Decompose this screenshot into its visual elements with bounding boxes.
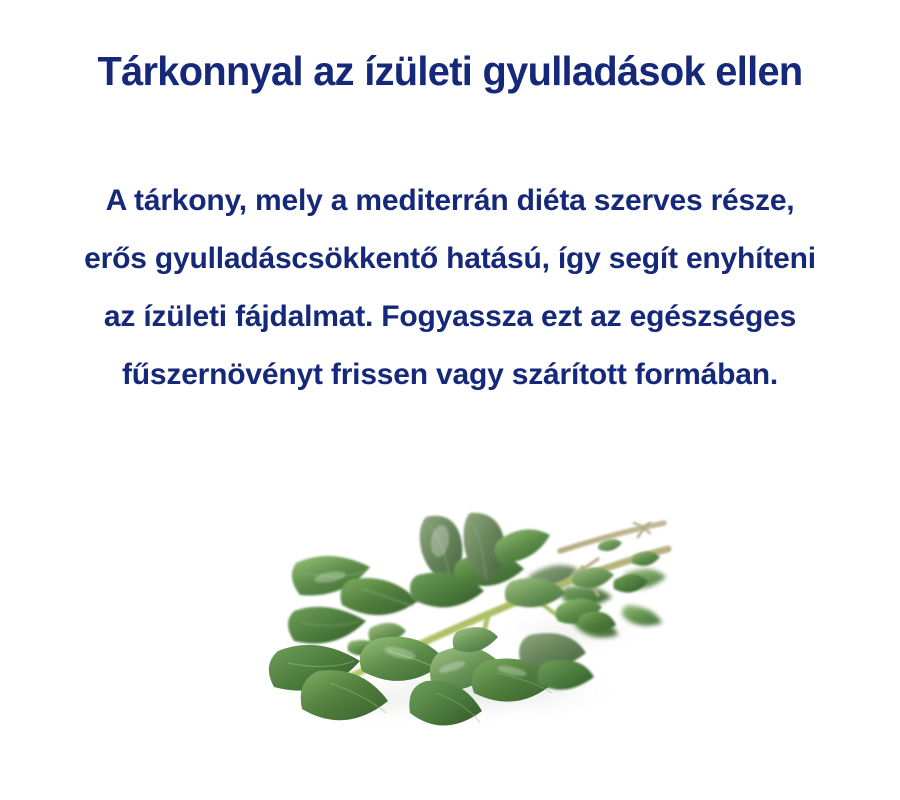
body-line-4: fűszernövényt frissen vagy szárított for… (20, 346, 880, 404)
body-paragraph: A tárkony, mely a mediterrán diéta szerv… (20, 172, 880, 404)
body-line-1: A tárkony, mely a mediterrán diéta szerv… (20, 172, 880, 230)
body-line-2: erős gyulladáscsökkentő hatású, így segí… (20, 230, 880, 288)
page-title: Tárkonnyal az ízületi gyulladások ellen (14, 45, 887, 97)
page-root: Tárkonnyal az ízületi gyulladások ellen … (0, 0, 900, 800)
body-line-3: az ízületi fájdalmat. Fogyassza ezt az e… (20, 288, 880, 346)
herb-photo (230, 455, 710, 775)
